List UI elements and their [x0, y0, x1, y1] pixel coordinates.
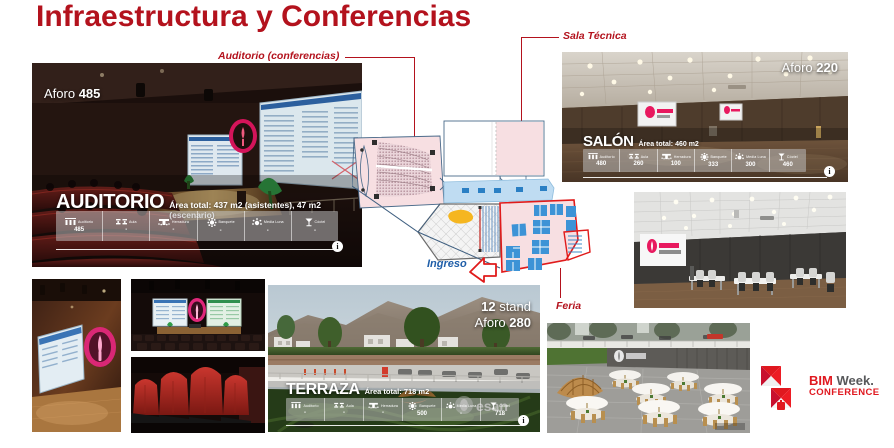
stat-label: Media Luna — [746, 155, 766, 159]
stat-value: 260 — [633, 160, 643, 168]
stat-label: Media Luna — [457, 404, 477, 408]
floor-plan-diagram — [352, 100, 598, 285]
salon-area: Área total: 460 m2 — [639, 141, 699, 148]
auditorio-hairline — [56, 249, 338, 250]
salon-title-line: SALÓN Área total: 460 m2 — [583, 133, 699, 150]
stat-value: 500 — [417, 410, 427, 418]
stat-value: 100 — [671, 160, 681, 168]
auditorium-screen-photo-card[interactable] — [32, 279, 121, 432]
stat-auditorio[interactable]: Auditorio - — [286, 398, 325, 421]
auditorium-stage-photo-card[interactable] — [131, 279, 265, 351]
floor-plan[interactable] — [352, 100, 598, 290]
stat-banquete[interactable]: Banquete 333 — [695, 149, 732, 172]
stat-label: Herradura — [172, 220, 189, 224]
halfmoon-layout-icon — [735, 153, 744, 161]
terraza-title-line: TERRAZA Área total: 718 m2 — [286, 381, 429, 399]
plan-feria — [500, 200, 590, 272]
slide-canvas: Infraestructura y Conferencias Auditorio… — [0, 0, 894, 448]
stat-value: - — [304, 409, 306, 417]
auditorio-photo-card[interactable]: Aforo 485 AUDITORIO Área total: 437 m2 (… — [32, 63, 362, 267]
bim-week-logo: BIM Week. CONFERENCE — [757, 362, 880, 410]
salon-aforo-value: 220 — [816, 60, 838, 75]
ingreso-arrow-icon — [470, 258, 496, 282]
auditorio-aforo-label: Aforo — [44, 86, 75, 101]
stat-label: Banquete — [219, 220, 235, 224]
auditorium-layout-icon — [291, 402, 301, 409]
plan-lobby — [418, 204, 500, 260]
auditorio-aforo: Aforo 485 — [44, 86, 100, 101]
stat-label: Banquete — [419, 404, 435, 408]
classroom-layout-icon — [629, 153, 639, 160]
halfmoon-layout-icon — [446, 402, 455, 410]
salon-photo-card[interactable]: Aforo 220 SALÓN Área total: 460 m2 Audit… — [562, 52, 848, 182]
stat-label: Cóctel — [787, 155, 798, 159]
plan-corridor — [444, 179, 554, 203]
auditorio-info-icon[interactable]: i — [332, 241, 343, 252]
salon-hairline — [583, 177, 827, 178]
terrace-tables-photo-card[interactable] — [547, 323, 750, 433]
stat-value: - — [460, 410, 462, 418]
classroom-layout-icon — [116, 218, 127, 226]
stat-value: 718 — [495, 410, 505, 418]
auditorium-seats-photo — [131, 357, 265, 433]
stat-label: Banquete — [711, 155, 727, 159]
stat-value: 300 — [745, 161, 755, 169]
stat-label: Cóctel — [315, 220, 326, 224]
salon-info-icon[interactable]: i — [824, 166, 835, 177]
leader-auditorio-h — [345, 57, 415, 58]
stat-label: Cóctel — [499, 404, 510, 408]
stat-value: - — [382, 409, 384, 417]
bim-logo-text: BIM Week. CONFERENCE — [809, 374, 880, 398]
terraza-badges: 12 stand Aforo 280 — [475, 299, 531, 330]
annotation-sala-tecnica: Sala Técnica — [563, 30, 627, 42]
annotation-feria: Feria — [556, 300, 581, 312]
stat-aula[interactable]: Aula 260 — [620, 149, 657, 172]
stat-coctel[interactable]: Cóctel 718 — [481, 398, 519, 421]
bim-logo-bim: BIM — [809, 373, 833, 388]
terraza-stats-strip[interactable]: Auditorio - Aula - — [286, 398, 519, 421]
banquet-layout-icon — [207, 218, 217, 227]
terraza-hairline — [286, 425, 523, 426]
cocktail-layout-icon — [490, 402, 497, 410]
stat-herradura[interactable]: Herradura - — [150, 211, 197, 241]
meeting-room-photo-card[interactable] — [634, 192, 846, 308]
terraza-photo-card[interactable]: esan 12 stand Aforo 280 TERRAZA Área tot… — [268, 285, 540, 432]
cocktail-layout-icon — [305, 218, 313, 227]
auditorio-stats-strip[interactable]: Auditorio 485 Aula - — [56, 211, 338, 241]
stat-value: - — [172, 226, 174, 234]
stat-media-luna[interactable]: Media Luna 300 — [732, 149, 769, 172]
auditorium-stage-photo — [131, 279, 265, 351]
stat-label: Aula — [129, 220, 137, 224]
stat-label: Herradura — [381, 404, 398, 408]
stat-label: Aula — [346, 404, 354, 408]
stat-value: - — [267, 227, 269, 235]
terraza-stand-label: stand — [499, 299, 531, 314]
terraza-name: TERRAZA — [286, 381, 360, 399]
auditorium-layout-icon — [65, 218, 76, 226]
salon-aforo-label: Aforo — [782, 60, 813, 75]
bim-logo-line2: CONFERENCE — [809, 387, 880, 398]
bim-logo-week: Week. — [836, 373, 873, 388]
stat-label: Media Luna — [264, 220, 284, 224]
stat-value: 485 — [74, 226, 84, 234]
stat-label: Auditorio — [600, 155, 615, 159]
classroom-layout-icon — [334, 402, 344, 409]
stat-label: Aula — [641, 155, 649, 159]
bim-mark-icon — [757, 362, 805, 410]
stat-media-luna[interactable]: Media Luna - — [245, 211, 292, 241]
stat-value: - — [343, 409, 345, 417]
stat-label: Auditorio — [78, 220, 93, 224]
stat-banquete[interactable]: Banquete 500 — [403, 398, 442, 421]
halfmoon-layout-icon — [252, 218, 262, 227]
plan-sala-tecnica — [444, 121, 544, 182]
terraza-aforo-label: Aforo — [475, 315, 506, 330]
banquet-layout-icon — [700, 153, 709, 161]
ushape-layout-icon — [368, 402, 379, 409]
terraza-area: Área total: 718 m2 — [365, 387, 430, 396]
stat-coctel[interactable]: Cóctel 460 — [770, 149, 806, 172]
bim-logo-line1: BIM Week. — [809, 374, 880, 387]
banquet-layout-icon — [408, 402, 417, 410]
stat-herradura[interactable]: Herradura - — [364, 398, 403, 421]
ushape-layout-icon — [661, 153, 672, 160]
terraza-stand-count: 12 — [481, 299, 495, 314]
stat-value: - — [314, 227, 316, 235]
leader-sala-h — [521, 37, 559, 38]
meeting-room-photo — [634, 192, 846, 308]
ushape-layout-icon — [158, 218, 170, 226]
stat-value: - — [220, 227, 222, 235]
stat-value: 460 — [783, 161, 793, 169]
auditorium-seats-photo-card[interactable] — [131, 357, 265, 433]
cocktail-layout-icon — [778, 153, 785, 161]
stat-coctel[interactable]: Cóctel - — [292, 211, 338, 241]
salon-stats-strip[interactable]: Auditorio 480 Aula 260 — [583, 149, 806, 172]
stat-auditorio[interactable]: Auditorio 485 — [56, 211, 103, 241]
stat-aula[interactable]: Aula - — [103, 211, 150, 241]
annotation-auditorio: Auditorio (conferencias) — [218, 50, 339, 62]
terraza-info-icon[interactable]: i — [518, 415, 529, 426]
page-title: Infraestructura y Conferencias — [36, 0, 471, 34]
stat-value: 333 — [708, 161, 718, 169]
auditorio-aforo-value: 485 — [79, 86, 101, 101]
stat-value: - — [125, 226, 127, 234]
stat-aula[interactable]: Aula - — [325, 398, 364, 421]
stat-label: Auditorio — [303, 404, 318, 408]
stat-media-luna[interactable]: Media Luna - — [442, 398, 481, 421]
auditorium-screen-photo — [32, 279, 121, 432]
terraza-aforo-value: 280 — [509, 315, 531, 330]
stat-label: Herradura — [674, 155, 691, 159]
stat-banquete[interactable]: Banquete - — [198, 211, 245, 241]
terrace-tables-photo — [547, 323, 750, 433]
salon-aforo: Aforo 220 — [782, 60, 838, 75]
stat-herradura[interactable]: Herradura 100 — [658, 149, 695, 172]
